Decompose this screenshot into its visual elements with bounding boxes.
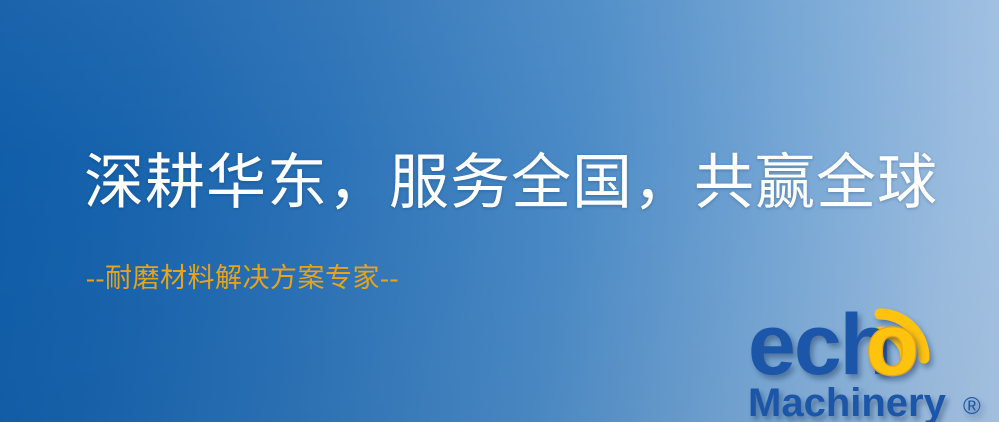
registered-trademark-icon: ® [963, 393, 981, 420]
logo-artwork: ech o Machinery ® [748, 296, 999, 422]
company-logo[interactable]: ech o Machinery ® [748, 296, 999, 422]
logo-tagline: Machinery [748, 381, 947, 422]
hero-banner: 深耕华东，服务全国，共赢全球 --耐磨材料解决方案专家-- ech o Mach… [0, 0, 999, 422]
logo-wordmark-gold: o [866, 297, 919, 393]
banner-subtitle: --耐磨材料解决方案专家-- [86, 265, 399, 292]
banner-headline: 深耕华东，服务全国，共赢全球 [84, 153, 938, 213]
